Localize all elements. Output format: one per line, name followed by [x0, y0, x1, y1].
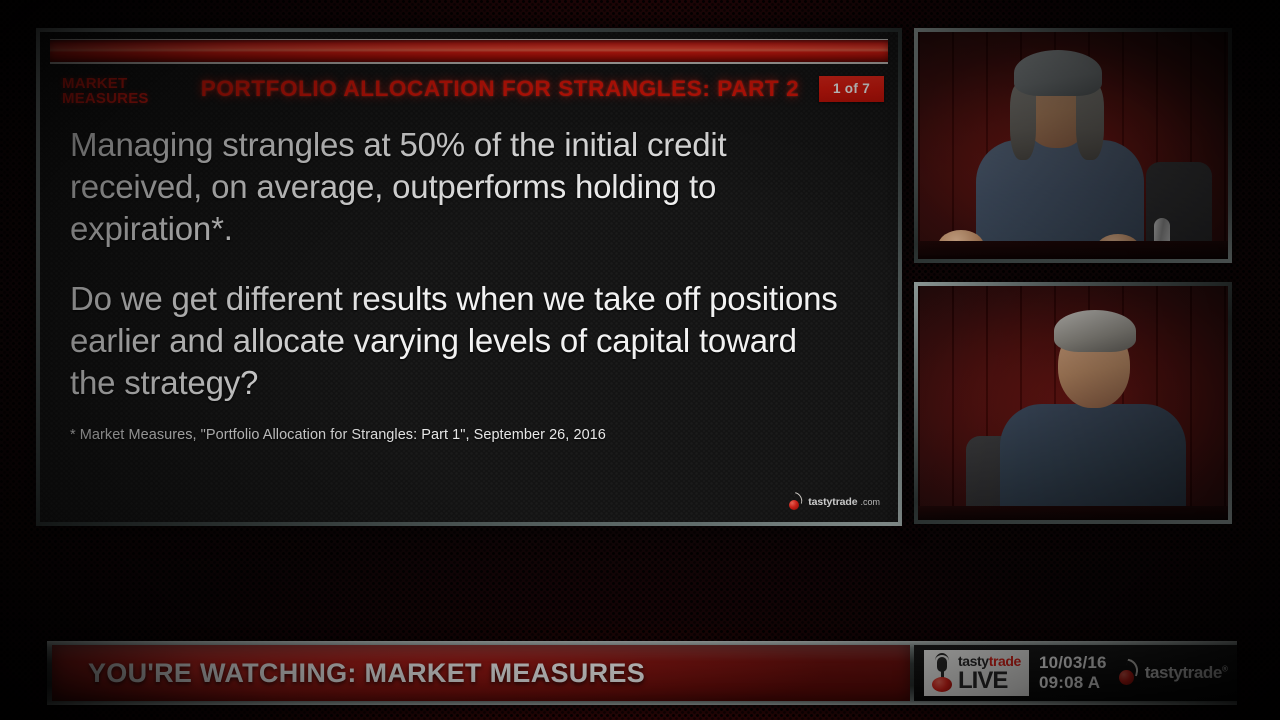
live-logo-live: LIVE — [958, 669, 1021, 693]
person-torso — [1000, 404, 1186, 520]
studio-desk — [918, 506, 1228, 520]
beanie-hat-icon — [1014, 50, 1102, 96]
tastytrade-brand-logo: tastytrade® — [1119, 661, 1228, 685]
registered-mark: ® — [1222, 664, 1228, 673]
market-measures-logo: MARKET MEASURES — [62, 76, 149, 107]
studio-desk — [918, 241, 1228, 259]
tastytrade-watermark: tastytrade .com — [789, 494, 880, 510]
slide-title: PORTFOLIO ALLOCATION FOR STRANGLES: PART… — [180, 76, 820, 102]
ticker-text: YOU'RE WATCHING: MARKET MEASURES — [88, 658, 645, 689]
video-feed-bottom — [918, 286, 1228, 520]
video-panel-top[interactable] — [914, 28, 1232, 263]
person-hair — [1054, 310, 1136, 352]
live-logo-brand: tastytrade — [958, 654, 1021, 668]
slide-footnote: * Market Measures, "Portfolio Allocation… — [70, 427, 606, 443]
ticker-message-panel: YOU'RE WATCHING: MARKET MEASURES — [52, 645, 910, 701]
watermark-domain: .com — [860, 497, 880, 507]
live-logo-words: tastytrade LIVE — [958, 654, 1021, 693]
slide-content: MARKET MEASURES PORTFOLIO ALLOCATION FOR… — [40, 32, 898, 522]
brand-wordmark: tastytrade® — [1145, 663, 1228, 683]
slide-paragraph-1: Managing strangles at 50% of the initial… — [70, 124, 838, 250]
watermark-brand: tastytrade — [808, 496, 857, 508]
video-panel-bottom[interactable] — [914, 282, 1232, 524]
cherry-icon — [1119, 661, 1141, 685]
microphone-icon — [930, 653, 954, 693]
logo-line-2: MEASURES — [62, 91, 149, 106]
slide-panel: MARKET MEASURES PORTFOLIO ALLOCATION FOR… — [36, 28, 902, 526]
ticker-info-panel: tastytrade LIVE 10/03/16 09:08 A tastytr… — [914, 645, 1237, 701]
slide-paragraph-2: Do we get different results when we take… — [70, 278, 838, 404]
brand-name: tastytrade — [1145, 663, 1222, 682]
cherry-icon — [789, 494, 805, 510]
slide-counter-badge: 1 of 7 — [819, 76, 884, 102]
tastytrade-live-logo: tastytrade LIVE — [924, 650, 1029, 696]
lower-third-ticker: YOU'RE WATCHING: MARKET MEASURES tastytr… — [47, 641, 1237, 705]
slide-header-stripe — [50, 39, 888, 64]
slide-body: Managing strangles at 50% of the initial… — [70, 124, 838, 432]
broadcast-time: 09:08 A — [1039, 673, 1107, 693]
broadcast-screen: MARKET MEASURES PORTFOLIO ALLOCATION FOR… — [0, 0, 1280, 720]
datetime-display: 10/03/16 09:08 A — [1039, 653, 1107, 693]
video-feed-top — [918, 32, 1228, 259]
broadcast-date: 10/03/16 — [1039, 653, 1107, 673]
